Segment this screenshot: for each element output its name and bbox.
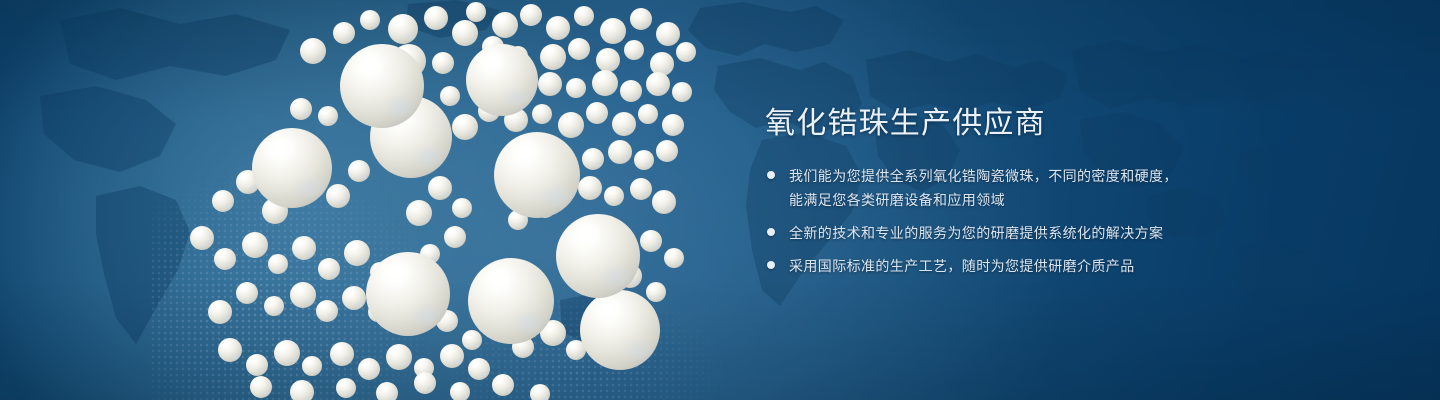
bead [406, 200, 432, 226]
bead [214, 248, 236, 270]
bead [630, 178, 652, 200]
bead [538, 72, 562, 96]
bead [530, 384, 550, 400]
bead [646, 282, 666, 302]
bullet-dot-icon [767, 261, 775, 269]
bullet-line-1: 全新的技术和专业的服务为您的研磨提供系统化的解决方案 [789, 226, 1163, 242]
bead [336, 378, 356, 398]
bead [532, 104, 552, 124]
bead [638, 104, 658, 124]
bead [300, 38, 326, 64]
bullet-line-2: 能满足您各类研磨设备和应用领域 [789, 189, 1178, 213]
bead [634, 150, 654, 170]
bead [640, 230, 662, 252]
bead [302, 356, 322, 376]
bead [574, 6, 594, 26]
bead [592, 70, 618, 96]
bead [492, 374, 514, 396]
bullet-line-1: 采用国际标准的生产工艺，随时为您提供研磨介质产品 [789, 259, 1135, 275]
bead [608, 140, 632, 164]
bead [566, 78, 586, 98]
bead [268, 254, 288, 274]
bead [428, 176, 452, 200]
bead [440, 86, 460, 106]
bullet-text: 采用国际标准的生产工艺，随时为您提供研磨介质产品 [789, 255, 1135, 279]
bead [333, 22, 355, 44]
bead [290, 282, 316, 308]
bead [366, 252, 450, 336]
bead [556, 214, 640, 298]
bead [604, 186, 624, 206]
bead [358, 358, 380, 380]
bead [492, 12, 518, 38]
page-title: 氧化锆珠生产供应商 [765, 105, 1325, 143]
bead [662, 114, 684, 136]
bead [414, 372, 436, 394]
bead [600, 18, 626, 44]
bead [264, 296, 284, 316]
bead [676, 42, 696, 62]
bead [316, 300, 338, 322]
bead [290, 380, 314, 400]
bead [596, 48, 620, 72]
bead [452, 20, 478, 46]
bead [580, 290, 660, 370]
bead [624, 40, 644, 60]
bead [360, 10, 380, 30]
bead [246, 354, 268, 376]
bead [656, 22, 680, 46]
bead [558, 112, 584, 138]
list-item: 采用国际标准的生产工艺，随时为您提供研磨介质产品 [765, 255, 1325, 279]
banner-copy: 氧化锆珠生产供应商 我们能为您提供全系列氧化锆陶瓷微珠，不同的密度和硬度， 能满… [765, 105, 1325, 279]
bead [466, 2, 486, 22]
bead [656, 140, 678, 162]
bullet-text: 全新的技术和专业的服务为您的研磨提供系统化的解决方案 [789, 222, 1163, 246]
bead [540, 44, 566, 70]
bead [468, 258, 554, 344]
bead [452, 198, 472, 218]
bead [344, 240, 370, 266]
bead [468, 358, 490, 380]
bead [292, 236, 316, 260]
bead [318, 106, 338, 126]
bead [612, 112, 636, 136]
bead [424, 6, 448, 30]
bead [630, 8, 652, 30]
bead [376, 382, 398, 400]
bullet-line-1: 我们能为您提供全系列氧化锆陶瓷微珠，不同的密度和硬度， [789, 169, 1178, 185]
hero-banner: 氧化锆珠生产供应商 我们能为您提供全系列氧化锆陶瓷微珠，不同的密度和硬度， 能满… [0, 0, 1440, 400]
list-item: 全新的技术和专业的服务为您的研磨提供系统化的解决方案 [765, 222, 1325, 246]
bead [452, 114, 478, 140]
bead [652, 190, 676, 214]
bead [620, 80, 642, 102]
bead [432, 52, 454, 74]
bead [348, 160, 370, 182]
bead [340, 44, 424, 128]
bead [586, 102, 608, 124]
bullet-dot-icon [767, 228, 775, 236]
bullet-dot-icon [767, 171, 775, 179]
bead [546, 16, 570, 40]
bead [672, 82, 692, 102]
bullet-text: 我们能为您提供全系列氧化锆陶瓷微珠，不同的密度和硬度， 能满足您各类研磨设备和应… [789, 165, 1178, 213]
bead [388, 14, 418, 44]
bead [250, 376, 272, 398]
bead [444, 226, 466, 248]
bead [252, 128, 332, 208]
bead [664, 248, 684, 268]
bead [190, 226, 214, 250]
bead [520, 4, 542, 26]
bead [578, 176, 602, 200]
bead [450, 382, 470, 400]
bead [290, 98, 312, 120]
bead [568, 38, 590, 60]
list-item: 我们能为您提供全系列氧化锆陶瓷微珠，不同的密度和硬度， 能满足您各类研磨设备和应… [765, 165, 1325, 213]
bead [494, 132, 580, 218]
bead [466, 44, 538, 116]
bead [274, 340, 300, 366]
bead [386, 344, 412, 370]
bead [208, 300, 232, 324]
bead [582, 148, 604, 170]
bead [318, 258, 340, 280]
bead [212, 190, 234, 212]
feature-bullet-list: 我们能为您提供全系列氧化锆陶瓷微珠，不同的密度和硬度， 能满足您各类研磨设备和应… [765, 165, 1325, 279]
bead [462, 330, 482, 350]
bead [236, 282, 258, 304]
zirconia-beads-photo [0, 0, 760, 400]
bead [646, 72, 670, 96]
bead [440, 344, 464, 368]
bead [218, 338, 242, 362]
bead [330, 342, 354, 366]
bead [326, 184, 350, 208]
bead [342, 286, 366, 310]
bead [242, 232, 268, 258]
